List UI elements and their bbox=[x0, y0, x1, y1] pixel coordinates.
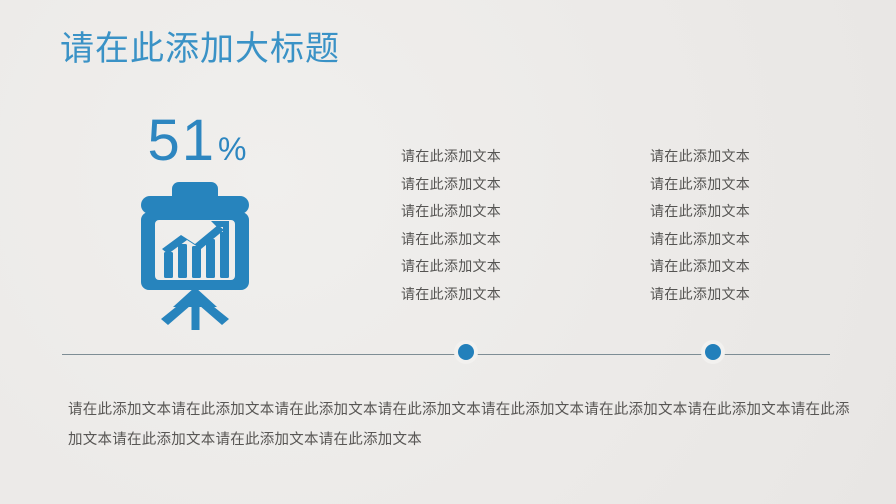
presentation-chart-icon bbox=[110, 182, 280, 330]
page-title: 请在此添加大标题 bbox=[60, 27, 340, 71]
text-line: 请在此添加文本 bbox=[401, 226, 501, 254]
footer-paragraph: 请在此添加文本请在此添加文本请在此添加文本请在此添加文本请在此添加文本请在此添加… bbox=[68, 395, 852, 455]
divider-dot-right bbox=[705, 344, 721, 360]
slide-canvas: 请在此添加大标题 51% bbox=[0, 0, 896, 504]
stat-value: 51% bbox=[110, 112, 280, 170]
text-column-2: 请在此添加文本 请在此添加文本 请在此添加文本 请在此添加文本 请在此添加文本 … bbox=[650, 143, 750, 308]
stat-block: 51% bbox=[110, 112, 280, 357]
text-line: 请在此添加文本 bbox=[650, 281, 750, 309]
text-line: 请在此添加文本 bbox=[401, 143, 501, 171]
text-line: 请在此添加文本 bbox=[401, 281, 501, 309]
text-line: 请在此添加文本 bbox=[650, 171, 750, 199]
text-line: 请在此添加文本 bbox=[650, 143, 750, 171]
text-column-1: 请在此添加文本 请在此添加文本 请在此添加文本 请在此添加文本 请在此添加文本 … bbox=[401, 143, 501, 308]
text-line: 请在此添加文本 bbox=[401, 198, 501, 226]
text-line: 请在此添加文本 bbox=[650, 253, 750, 281]
text-line: 请在此添加文本 bbox=[650, 226, 750, 254]
stat-unit: % bbox=[218, 131, 246, 167]
text-line: 请在此添加文本 bbox=[650, 198, 750, 226]
text-line: 请在此添加文本 bbox=[401, 171, 501, 199]
divider-dot-left bbox=[458, 344, 474, 360]
text-line: 请在此添加文本 bbox=[401, 253, 501, 281]
stat-number: 51 bbox=[148, 108, 217, 173]
